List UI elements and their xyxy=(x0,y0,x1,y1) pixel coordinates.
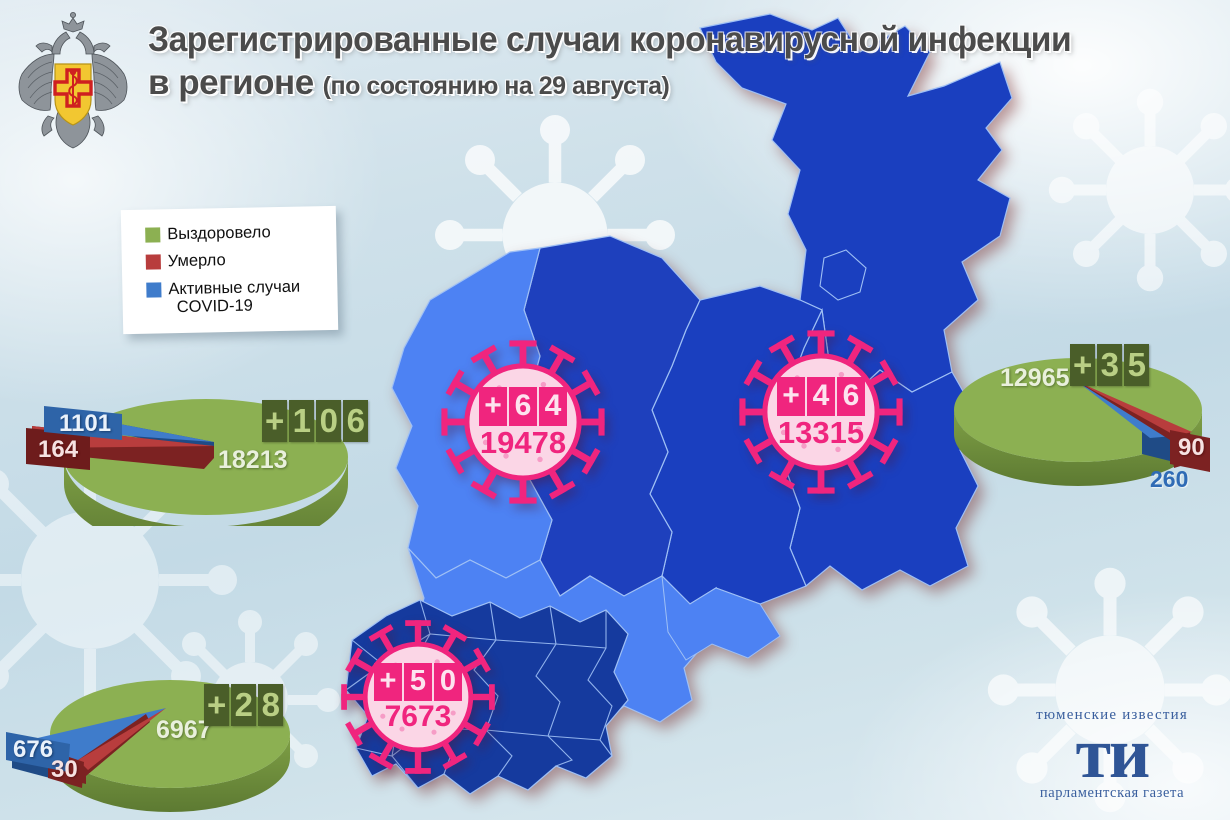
legend-item-died: Умерло xyxy=(146,249,337,271)
pie-chart-yamalo-nenets: 6967 676 30 + 2 8 xyxy=(4,652,334,814)
legend-swatch-recovered xyxy=(145,227,160,242)
delta-char: + xyxy=(262,400,287,442)
delta-char: 3 xyxy=(1097,344,1122,386)
badge-body xyxy=(765,356,877,468)
badge-body xyxy=(365,644,471,750)
delta-char: 5 xyxy=(1124,344,1149,386)
legend-label-active-line1: Активные случаи xyxy=(168,278,300,299)
pie-chart-khanty-mansi: 12965 90 260 + 3 5 xyxy=(942,332,1227,502)
rospotrebnadzor-emblem xyxy=(8,12,138,154)
infographic-canvas: Зарегистрированные случаи коронавирусной… xyxy=(0,0,1230,820)
delta-char: + xyxy=(204,684,229,726)
legend-swatch-died xyxy=(146,255,161,270)
badge-body xyxy=(467,366,579,478)
delta-char: 2 xyxy=(231,684,256,726)
badge-khanty-mansi: + 4 6 13315 xyxy=(736,324,906,500)
legend-label-active: Активные случаи COVID-19 xyxy=(168,278,301,318)
badge-region-total: + 6 4 19478 xyxy=(438,334,608,510)
legend-label-active-line2: COVID-19 xyxy=(177,296,301,317)
logo-monogram: ти xyxy=(1012,724,1212,783)
publisher-logo: тюменские известия ти парламентская газе… xyxy=(1012,707,1212,802)
badge-tyumen-oblast: + 5 0 7673 xyxy=(338,614,498,780)
legend-label-recovered: Выздоровело xyxy=(167,223,271,244)
pie-delta-tyumen-oblast: + 1 0 6 xyxy=(262,400,368,442)
delta-char: 8 xyxy=(258,684,283,726)
pie-chart-tyumen-oblast: 18213 1101 164 + 1 0 6 xyxy=(18,366,368,526)
logo-bottom-text: парламентская газета xyxy=(1012,785,1212,802)
delta-char: 6 xyxy=(343,400,368,442)
pie-delta-khanty-mansi: + 3 5 xyxy=(1070,344,1149,386)
page-title: Зарегистрированные случаи коронавирусной… xyxy=(148,22,1213,100)
delta-char: + xyxy=(1070,344,1095,386)
delta-char: 1 xyxy=(289,400,314,442)
legend: Выздоровело Умерло Активные случаи COVID… xyxy=(121,206,338,334)
legend-item-recovered: Выздоровело xyxy=(145,222,336,244)
title-main-line: Зарегистрированные случаи коронавирусной… xyxy=(148,22,1170,58)
title-date: (по состоянию на 29 августа) xyxy=(323,74,670,100)
legend-swatch-active xyxy=(146,282,161,297)
legend-label-died: Умерло xyxy=(168,252,226,272)
delta-char: 0 xyxy=(316,400,341,442)
pie-delta-yamalo-nenets: + 2 8 xyxy=(204,684,283,726)
legend-item-active: Активные случаи COVID-19 xyxy=(146,277,338,318)
title-sub-line: в регионе xyxy=(148,65,314,101)
